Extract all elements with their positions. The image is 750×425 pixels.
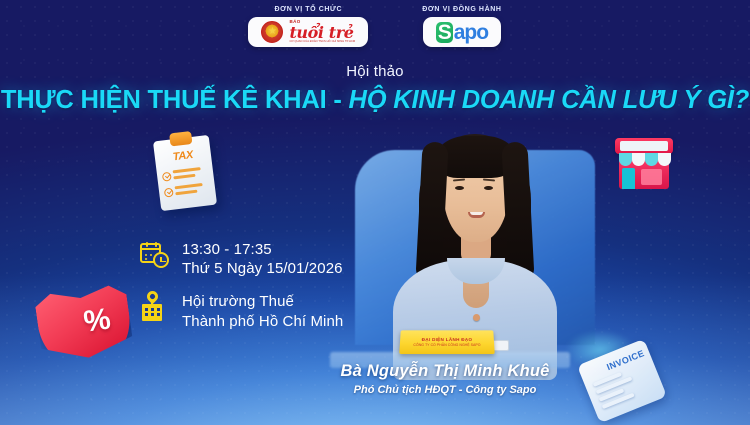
venue-name: Hội trường Thuế <box>182 292 343 311</box>
shop-awning-1 <box>619 153 632 166</box>
organizer-logo-card[interactable]: BÁO tuổi trẻ CƠ QUAN CỦA ĐOÀN TNCS HỒ CH… <box>248 17 368 47</box>
speaker-name: Bà Nguyễn Thị Minh Khuê <box>275 362 615 381</box>
calendar-dot-2 <box>150 254 152 256</box>
discount-percent-tag-icon: % <box>34 282 135 364</box>
speaker-credit: Bà Nguyễn Thị Minh Khuê Phó Chủ tịch HĐQ… <box>275 362 615 396</box>
datetime-text: 13:30 - 17:35 Thứ 5 Ngày 15/01/2026 <box>182 240 343 278</box>
building-window-6 <box>157 313 160 316</box>
shop-door <box>622 168 635 189</box>
shop-window <box>641 169 662 185</box>
building-window-1 <box>145 308 148 311</box>
nameplate-line-2: CÔNG TY CỔ PHẦN CÔNG NGHỆ SAPO <box>413 343 480 347</box>
eye-left <box>455 186 464 190</box>
partner-block: ĐƠN VỊ ĐỒNG HÀNH S apo <box>422 0 501 47</box>
event-info-row-datetime: 13:30 - 17:35 Thứ 5 Ngày 15/01/2026 <box>140 240 343 278</box>
blazer-button-1 <box>473 314 480 321</box>
tuoitre-wordmark: BÁO tuổi trẻ CƠ QUAN CỦA ĐOÀN TNCS HỒ CH… <box>289 20 355 43</box>
shop-awning-2 <box>632 153 645 166</box>
tuoitre-logo: BÁO tuổi trẻ CƠ QUAN CỦA ĐOÀN TNCS HỒ CH… <box>261 20 355 43</box>
building-window-2 <box>151 308 154 311</box>
building-window-5 <box>151 313 154 316</box>
clock-face <box>153 252 169 268</box>
event-date: Thứ 5 Ngày 15/01/2026 <box>182 259 343 278</box>
location-text: Hội trường Thuế Thành phố Hồ Chí Minh <box>182 292 343 330</box>
national-emblem-icon <box>261 21 283 43</box>
eye-right <box>484 186 493 190</box>
headline-part-1: THỰC HIỆN THUẾ KÊ KHAI - <box>1 86 349 114</box>
shop-awning-3 <box>645 153 658 166</box>
sapo-wordmark: apo <box>454 22 488 43</box>
building-body <box>142 304 162 321</box>
clipboard-clamp <box>169 131 192 147</box>
tuoitre-tagline: CƠ QUAN CỦA ĐOÀN TNCS HỒ CHÍ MINH TP.HCM <box>289 41 355 44</box>
page-title: THỰC HIỆN THUẾ KÊ KHAI - HỘ KINH DOANH C… <box>0 86 750 115</box>
calendar-dot-1 <box>145 254 147 256</box>
shop-roof <box>615 138 673 154</box>
calendar-ring-left <box>146 242 148 247</box>
tuoitre-word: tuổi trẻ <box>289 25 355 40</box>
event-time: 13:30 - 17:35 <box>182 240 343 259</box>
calendar-clock-icon <box>140 240 170 270</box>
tax-clipboard-icon: TAX <box>153 135 217 211</box>
event-info-row-location: Hội trường Thuế Thành phố Hồ Chí Minh <box>140 292 343 330</box>
nameplate-line-1: ĐẠI DIỆN LÃNH ĐẠO <box>422 337 473 342</box>
building-window-3 <box>157 308 160 311</box>
partner-label: ĐƠN VỊ ĐỒNG HÀNH <box>422 6 501 13</box>
storefront-icon <box>613 138 675 196</box>
speaker-role: Phó Chủ tịch HĐQT - Công ty Sapo <box>275 384 615 396</box>
calendar-ring-right <box>155 242 157 247</box>
sapo-logo: S apo <box>436 22 488 43</box>
shop-awning-4 <box>658 153 671 166</box>
seminar-banner: ĐƠN VỊ TỔ CHỨC BÁO tuổi trẻ CƠ QUAN CỦA … <box>0 0 750 425</box>
event-info: 13:30 - 17:35 Thứ 5 Ngày 15/01/2026 Hội … <box>140 240 343 331</box>
calendar-dot-3 <box>145 258 147 260</box>
headline-part-2: HỘ KINH DOANH CẦN LƯU Ý GÌ? <box>349 86 750 114</box>
location-building-icon <box>140 292 170 322</box>
sapo-initial: S <box>436 22 453 43</box>
eyebrow-label: Hội thảo <box>0 63 750 80</box>
venue-city: Thành phố Hồ Chí Minh <box>182 312 343 331</box>
partner-logo-card[interactable]: S apo <box>423 17 501 47</box>
organizer-block: ĐƠN VỊ TỔ CHỨC BÁO tuổi trẻ CƠ QUAN CỦA … <box>248 0 368 47</box>
sponsor-row: ĐƠN VỊ TỔ CHỨC BÁO tuổi trẻ CƠ QUAN CỦA … <box>0 0 750 47</box>
building-window-4 <box>145 313 148 316</box>
organizer-label: ĐƠN VỊ TỔ CHỨC <box>275 6 343 13</box>
percent-symbol: % <box>82 304 113 337</box>
desk-nameplate: ĐẠI DIỆN LÃNH ĐẠO CÔNG TY CỔ PHẦN CÔNG N… <box>399 330 494 354</box>
